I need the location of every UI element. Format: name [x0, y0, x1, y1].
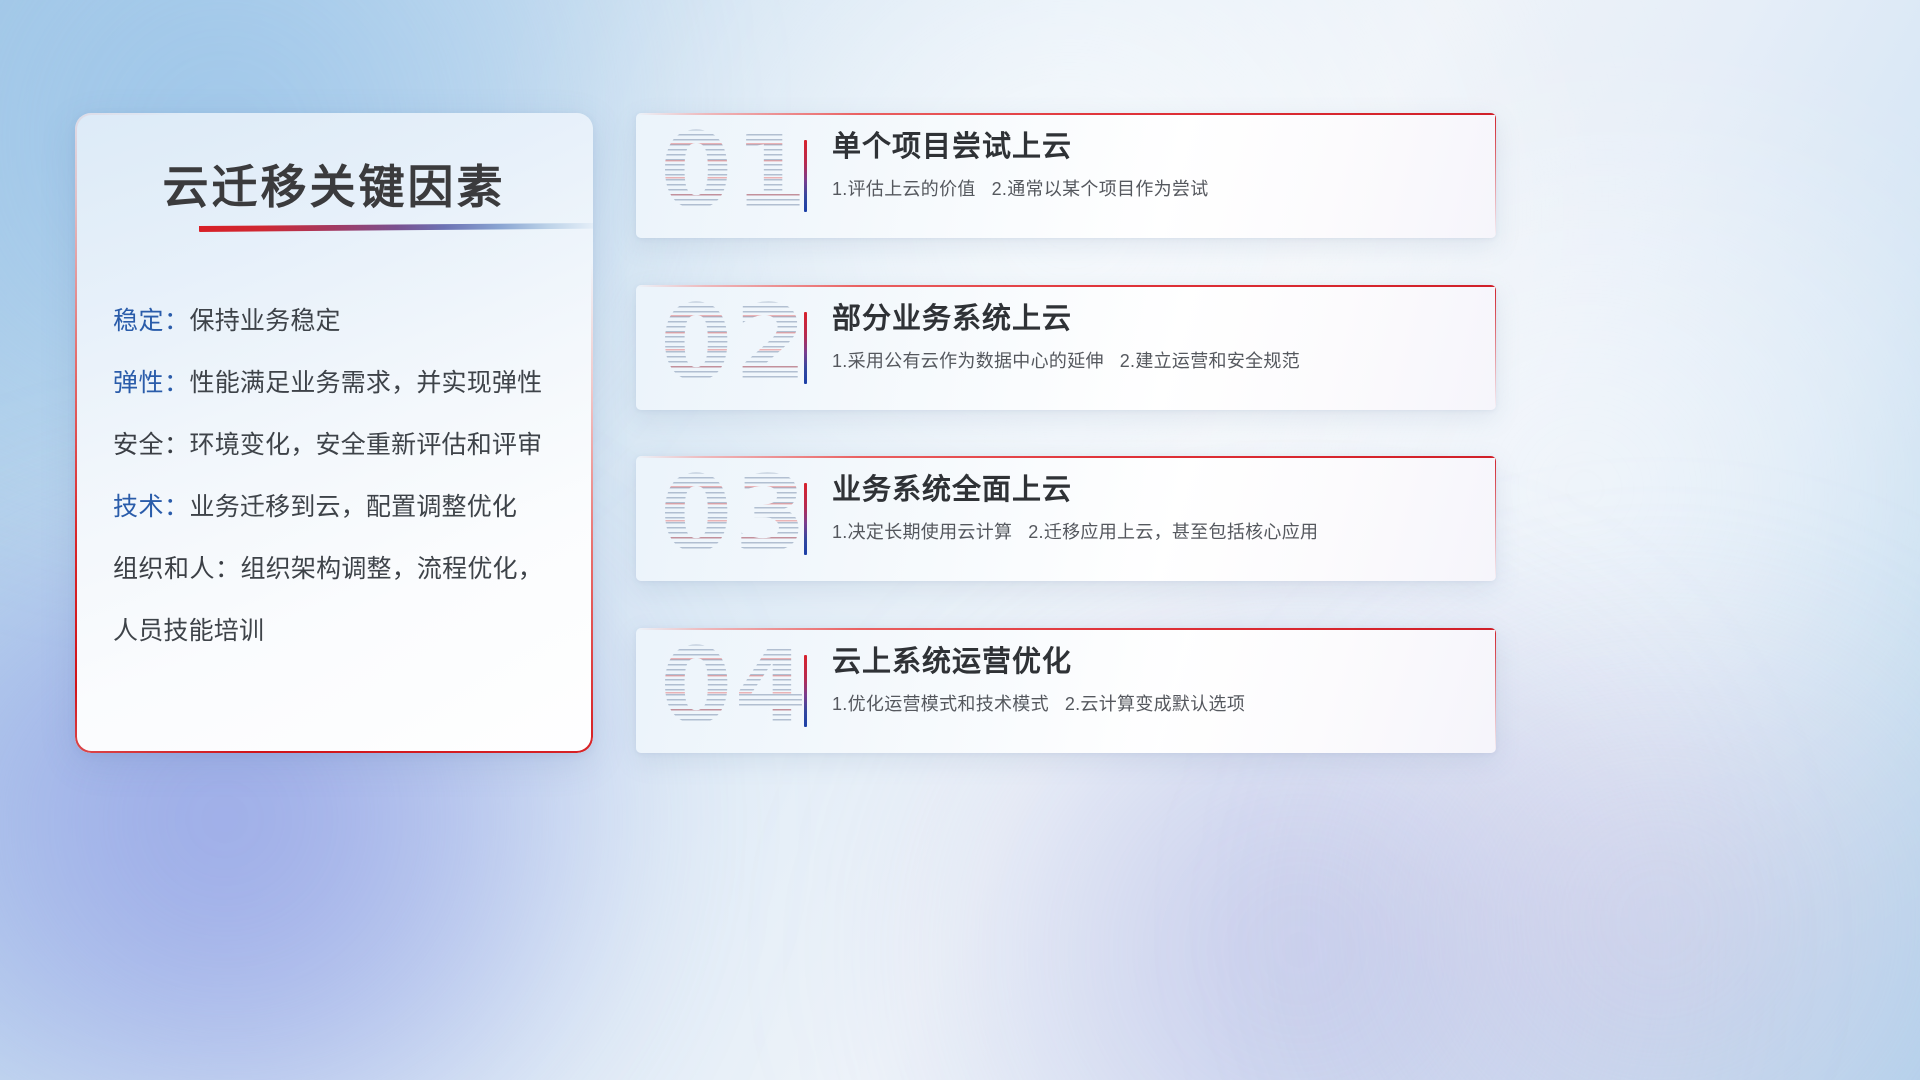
list-item-label: 技术： — [113, 495, 190, 520]
list-item-label: 弹性： — [113, 371, 190, 396]
key-factors-panel: 云迁移关键因素 稳定： 保持业务稳定 弹性： 性能满足业务需求，并实现弹性 安全… — [75, 113, 593, 753]
list-item: 安全： 环境变化，安全重新评估和评审 — [113, 433, 569, 458]
list-item-value: 业务迁移到云，配置调整优化 — [190, 495, 518, 520]
list-item-label: 稳定： — [113, 309, 190, 334]
step-text-block: 部分业务系统上云 1.采用公有云作为数据中心的延伸 2.建立运营和安全规范 — [832, 301, 1466, 374]
step-number-ghost-red: 01 — [660, 113, 809, 234]
list-item-continuation-text: 人员技能培训 — [113, 619, 264, 644]
step-text-block: 单个项目尝试上云 1.评估上云的价值 2.通常以某个项目作为尝试 — [832, 129, 1466, 202]
step-title: 云上系统运营优化 — [832, 644, 1466, 682]
step-divider — [804, 140, 807, 212]
list-item-value: 组织架构调整，流程优化， — [241, 557, 543, 582]
list-item-value: 性能满足业务需求，并实现弹性 — [190, 371, 543, 396]
step-divider — [804, 312, 807, 384]
step-card-02[interactable]: 02 02 部分业务系统上云 1.采用公有云作为数据中心的延伸 2.建立运营和安… — [636, 285, 1496, 410]
step-number-ghost-red: 02 — [660, 285, 809, 406]
list-item: 弹性： 性能满足业务需求，并实现弹性 — [113, 371, 569, 396]
list-item: 组织和人： 组织架构调整，流程优化， — [113, 557, 569, 582]
step-card-04[interactable]: 04 04 云上系统运营优化 1.优化运营模式和技术模式 2.云计算变成默认选项 — [636, 628, 1496, 753]
step-number-ghost-red: 03 — [660, 456, 809, 577]
panel-title: 云迁移关键因素 — [75, 151, 593, 217]
step-divider — [804, 483, 807, 555]
step-points: 1.决定长期使用云计算 2.迁移应用上云，甚至包括核心应用 — [832, 520, 1466, 545]
slide-stage: 云迁移关键因素 稳定： 保持业务稳定 弹性： 性能满足业务需求，并实现弹性 安全… — [0, 0, 1920, 1080]
list-item-label: 组织和人： — [113, 557, 241, 582]
list-item-value: 保持业务稳定 — [190, 309, 341, 334]
step-points: 1.优化运营模式和技术模式 2.云计算变成默认选项 — [832, 692, 1466, 717]
step-number-ghost-red: 04 — [660, 628, 809, 749]
step-card-01[interactable]: 01 01 单个项目尝试上云 1.评估上云的价值 2.通常以某个项目作为尝试 — [636, 113, 1496, 238]
step-points: 1.评估上云的价值 2.通常以某个项目作为尝试 — [832, 177, 1466, 202]
step-text-block: 云上系统运营优化 1.优化运营模式和技术模式 2.云计算变成默认选项 — [832, 644, 1466, 717]
list-item: 技术： 业务迁移到云，配置调整优化 — [113, 495, 569, 520]
step-title: 部分业务系统上云 — [832, 301, 1466, 339]
step-title: 单个项目尝试上云 — [832, 129, 1466, 167]
title-underline-rule — [199, 223, 593, 232]
list-item-label: 安全： — [113, 433, 190, 458]
list-item: 稳定： 保持业务稳定 — [113, 309, 569, 334]
key-factors-list: 稳定： 保持业务稳定 弹性： 性能满足业务需求，并实现弹性 安全： 环境变化，安… — [113, 309, 569, 644]
step-card-03[interactable]: 03 03 业务系统全面上云 1.决定长期使用云计算 2.迁移应用上云，甚至包括… — [636, 456, 1496, 581]
step-divider — [804, 655, 807, 727]
list-item-value: 环境变化，安全重新评估和评审 — [190, 433, 543, 458]
step-title: 业务系统全面上云 — [832, 472, 1466, 510]
step-points: 1.采用公有云作为数据中心的延伸 2.建立运营和安全规范 — [832, 349, 1466, 374]
list-item-continuation: 人员技能培训 — [113, 619, 569, 644]
step-text-block: 业务系统全面上云 1.决定长期使用云计算 2.迁移应用上云，甚至包括核心应用 — [832, 472, 1466, 545]
